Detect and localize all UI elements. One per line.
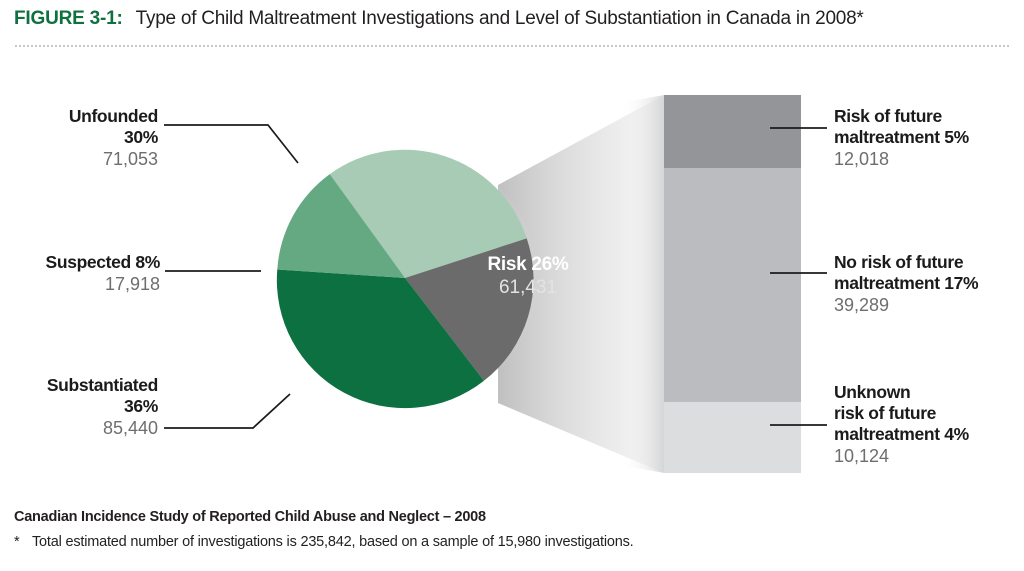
footnote-row: * Total estimated number of investigatio…	[14, 533, 1010, 552]
pie-center-percent: Risk 26%	[448, 253, 608, 276]
bar-segment-unknown-risk[interactable]	[664, 402, 801, 473]
label-suspected-line1: Suspected 8%	[0, 252, 160, 273]
figure-footer: Canadian Incidence Study of Reported Chi…	[14, 508, 1010, 552]
label-unknown-risk-line2: risk of future	[834, 403, 1024, 424]
label-substantiated-value: 85,440	[0, 417, 158, 440]
leader-line-substantiated	[164, 394, 290, 428]
label-unknown-risk-of-future-maltreatment[interactable]: Unknown risk of future maltreatment 4% 1…	[834, 382, 1024, 468]
source-line: Canadian Incidence Study of Reported Chi…	[14, 508, 1010, 527]
label-substantiated-line2: 36%	[0, 396, 158, 417]
label-suspected[interactable]: Suspected 8% 17,918	[0, 252, 160, 296]
label-substantiated-line1: Substantiated	[0, 375, 158, 396]
label-no-risk-of-future-maltreatment[interactable]: No risk of future maltreatment 17% 39,28…	[834, 252, 1024, 317]
pie-center-label: Risk 26% 61,431	[448, 253, 608, 300]
label-unfounded-line1: Unfounded	[0, 106, 158, 127]
label-no-risk-future-line2: maltreatment 17%	[834, 273, 1024, 294]
label-suspected-value: 17,918	[0, 273, 160, 296]
label-risk-future-line2: maltreatment 5%	[834, 127, 1024, 148]
label-unfounded-line2: 30%	[0, 127, 158, 148]
stacked-bar	[620, 95, 801, 473]
pie-center-value: 61,431	[448, 276, 608, 300]
label-unknown-risk-line1: Unknown	[834, 382, 1024, 403]
bar-segment-no-risk-of-future[interactable]	[664, 168, 801, 402]
label-risk-future-value: 12,018	[834, 148, 1024, 171]
figure-container: FIGURE 3-1: Type of Child Maltreatment I…	[0, 0, 1024, 571]
label-substantiated[interactable]: Substantiated 36% 85,440	[0, 375, 158, 440]
footnote-marker: *	[14, 533, 32, 552]
label-risk-of-future-maltreatment[interactable]: Risk of future maltreatment 5% 12,018	[834, 106, 1024, 171]
label-unfounded-value: 71,053	[0, 148, 158, 171]
figure-header: FIGURE 3-1: Type of Child Maltreatment I…	[14, 8, 1010, 38]
label-unknown-risk-line3: maltreatment 4%	[834, 424, 1024, 445]
label-unfounded[interactable]: Unfounded 30% 71,053	[0, 106, 158, 171]
figure-number: FIGURE 3-1:	[14, 8, 123, 30]
label-risk-future-line1: Risk of future	[834, 106, 1024, 127]
bar-side-shade	[620, 95, 664, 473]
label-no-risk-future-value: 39,289	[834, 294, 1024, 317]
chart-plot-area: Risk 26% 61,431 Unfounded 30% 71,053 Sus…	[0, 55, 1024, 495]
label-unknown-risk-value: 10,124	[834, 445, 1024, 468]
label-no-risk-future-line1: No risk of future	[834, 252, 1024, 273]
footnote-text: Total estimated number of investigations…	[32, 533, 633, 552]
header-divider	[14, 45, 1010, 47]
bar-segment-risk-of-future[interactable]	[664, 95, 801, 168]
page-title: Type of Child Maltreatment Investigation…	[136, 8, 864, 30]
leader-line-unfounded	[164, 125, 298, 163]
